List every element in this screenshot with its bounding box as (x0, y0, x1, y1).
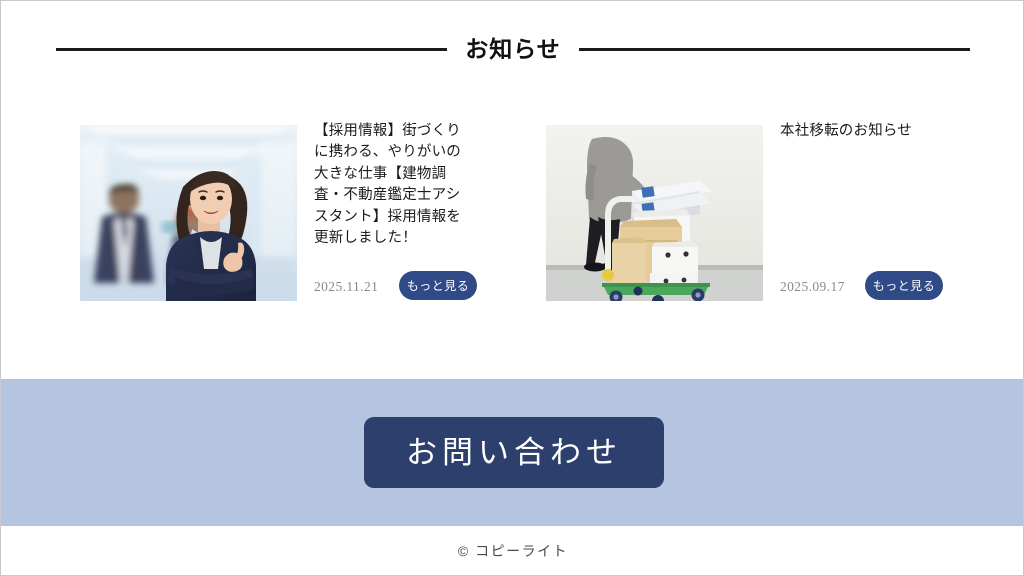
news-list: 【採用情報】街づくりに携わる、やりがいの大きな仕事【建物調査・不動産鑑定士アシス… (1, 111, 1024, 321)
heading-rule-left (56, 48, 447, 51)
contact-band: お問い合わせ (1, 379, 1024, 526)
read-more-button[interactable]: もっと見る (865, 271, 943, 300)
heading-rule-right (579, 48, 970, 51)
news-date: 2025.11.21 (314, 279, 378, 295)
read-more-button[interactable]: もっと見る (399, 271, 477, 300)
news-meta: 2025.11.21 もっと見る (314, 271, 534, 311)
news-date: 2025.09.17 (780, 279, 845, 295)
news-thumbnail-image[interactable] (546, 125, 763, 301)
contact-button[interactable]: お問い合わせ (364, 417, 664, 488)
section-heading: お知らせ (56, 27, 970, 71)
section-title: お知らせ (461, 38, 565, 61)
news-card[interactable]: 【採用情報】街づくりに携わる、やりがいの大きな仕事【建物調査・不動産鑑定士アシス… (80, 111, 480, 311)
news-card[interactable]: 本社移転のお知らせ 2025.09.17 もっと見る (546, 111, 946, 311)
page-root: お知らせ (0, 0, 1024, 576)
news-thumbnail-image[interactable] (80, 125, 297, 301)
footer: © コピーライト (1, 526, 1024, 575)
news-title[interactable]: 本社移転のお知らせ (780, 121, 938, 142)
news-title[interactable]: 【採用情報】街づくりに携わる、やりがいの大きな仕事【建物調査・不動産鑑定士アシス… (314, 121, 472, 250)
news-meta: 2025.09.17 もっと見る (780, 271, 1000, 311)
copyright-text: © コピーライト (458, 541, 568, 561)
